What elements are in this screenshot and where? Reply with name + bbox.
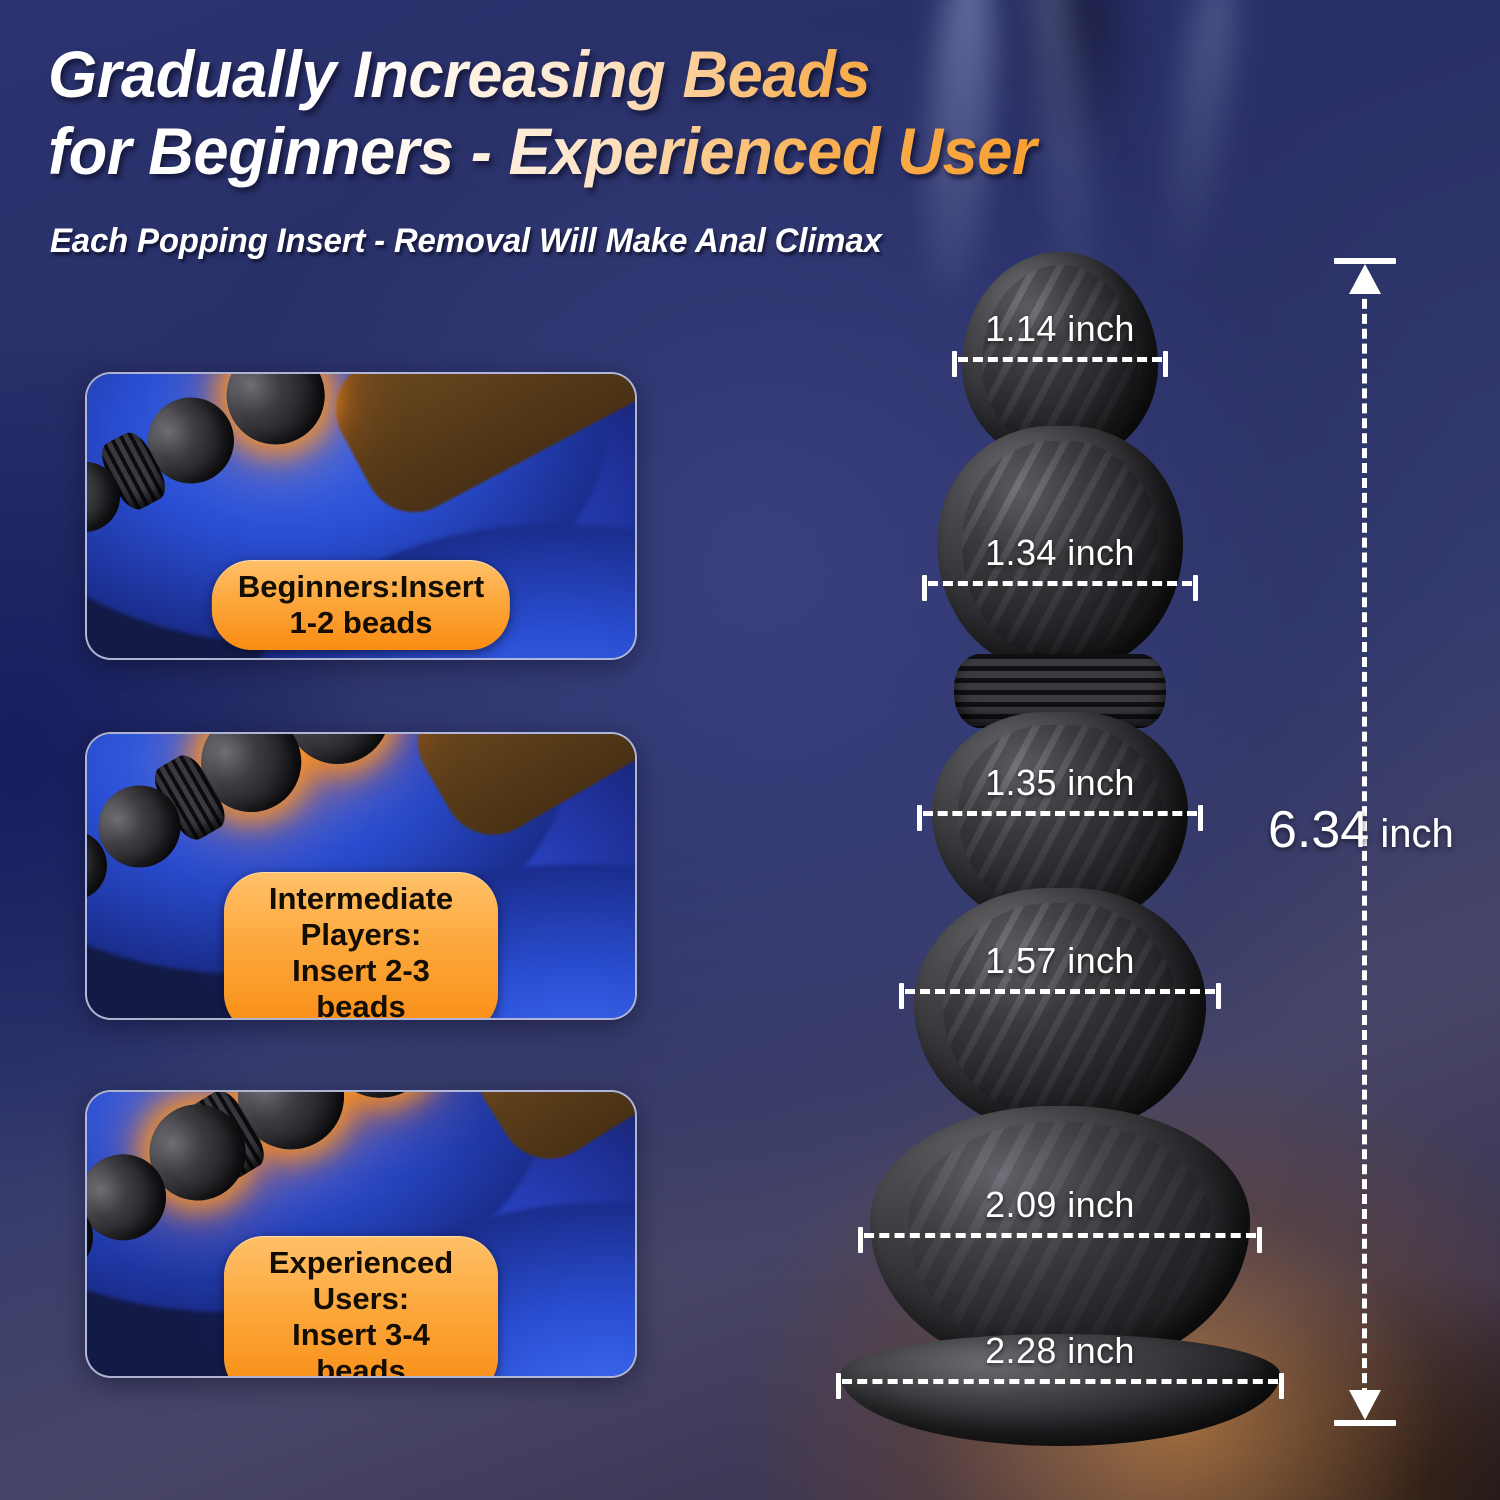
dimension-4: 1.57 inch xyxy=(899,940,1221,997)
usage-panel-beginners: Beginners:Insert 1-2 beads xyxy=(85,372,637,660)
dimension-label: 1.35 inch xyxy=(917,762,1203,804)
panel-badge-label: Experienced Users: Insert 3-4 beads xyxy=(224,1236,498,1378)
product-bead-4 xyxy=(914,888,1206,1132)
page-title: Gradually Increasing Beads for Beginners… xyxy=(48,36,1296,189)
dimension-label: 2.28 inch xyxy=(836,1330,1284,1372)
dimension-label: 1.34 inch xyxy=(922,532,1198,574)
arrow-down-icon xyxy=(1349,1390,1381,1420)
panel-badge-label: Beginners:Insert 1-2 beads xyxy=(212,560,510,650)
dimension-1: 1.14 inch xyxy=(952,308,1168,365)
dimension-label: 1.14 inch xyxy=(952,308,1168,350)
dimension-6: 2.28 inch xyxy=(836,1330,1284,1387)
product-diagram: 1.14 inch 1.34 inch 1.35 inch 1.57 inch … xyxy=(820,230,1300,1460)
dimension-5: 2.09 inch xyxy=(858,1184,1262,1241)
dimension-label: 1.57 inch xyxy=(899,940,1221,982)
infographic-canvas: Gradually Increasing Beads for Beginners… xyxy=(0,0,1500,1500)
usage-panel-experienced: Experienced Users: Insert 3-4 beads xyxy=(85,1090,637,1378)
height-unit: inch xyxy=(1369,812,1454,856)
height-cap-bottom xyxy=(1334,1420,1396,1426)
dimension-2: 1.34 inch xyxy=(922,532,1198,589)
dimension-3: 1.35 inch xyxy=(917,762,1203,819)
panel-badge-label: Intermediate Players: Insert 2-3 beads xyxy=(224,872,498,1020)
dimension-label: 2.09 inch xyxy=(858,1184,1262,1226)
usage-panel-intermediate: Intermediate Players: Insert 2-3 beads xyxy=(85,732,637,1020)
